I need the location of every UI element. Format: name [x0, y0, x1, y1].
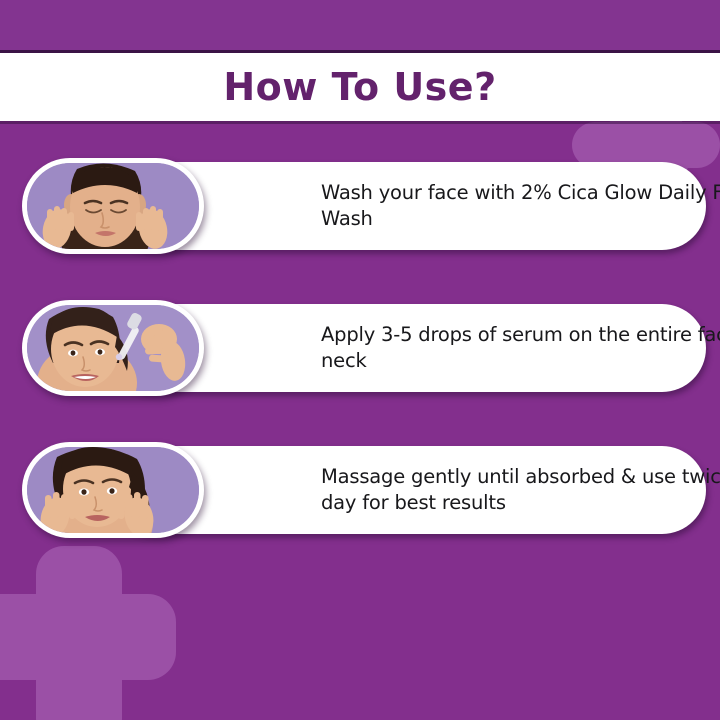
step-row-2: Apply 3-5 drops of serum on the entire f…	[12, 302, 706, 394]
step-thumbnail-2	[22, 300, 204, 396]
how-to-use-poster: How To Use? Wash your face with 2% Cica …	[0, 0, 720, 720]
step-text-2: Apply 3-5 drops of serum on the entire f…	[321, 322, 720, 374]
face-massage-image	[27, 447, 199, 533]
step-text-3: Massage gently until absorbed & use twic…	[321, 464, 720, 516]
page-title: How To Use?	[223, 65, 496, 109]
serum-dropper-image	[27, 305, 199, 391]
face-washing-image	[27, 163, 199, 249]
step-row-3: Massage gently until absorbed & use twic…	[12, 444, 706, 536]
decorative-cross-bottom-left-horizontal	[0, 594, 176, 680]
top-purple-strip	[0, 0, 720, 50]
step-text-1: Wash your face with 2% Cica Glow Daily F…	[321, 180, 720, 232]
step-thumbnail-1	[22, 158, 204, 254]
title-band-shadow	[0, 121, 720, 124]
step-thumbnail-3	[22, 442, 204, 538]
title-band: How To Use?	[0, 53, 720, 121]
step-row-1: Wash your face with 2% Cica Glow Daily F…	[12, 160, 706, 252]
